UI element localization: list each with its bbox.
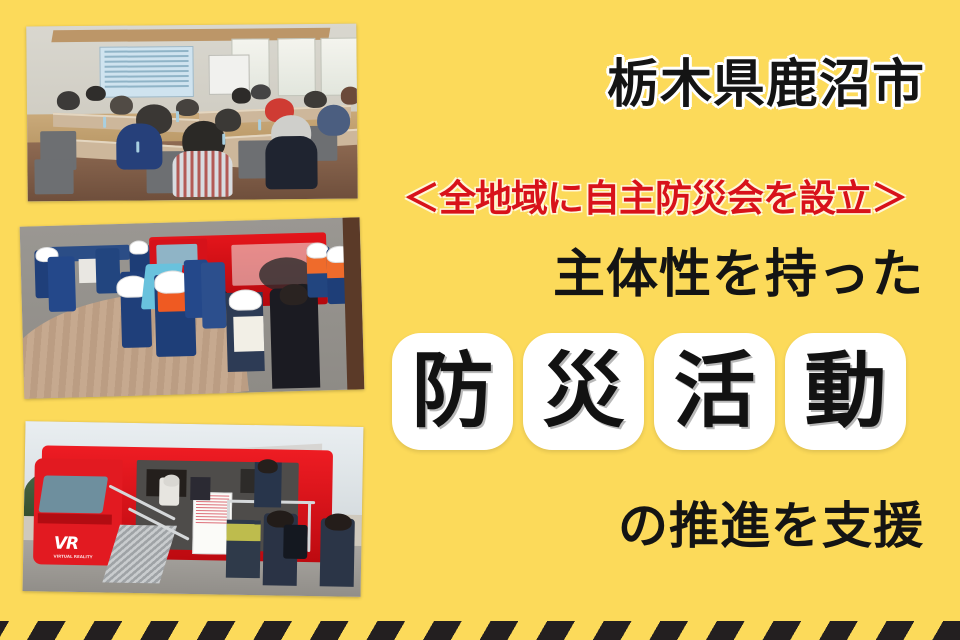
emphasis-box-row: 防 災 活 動: [392, 333, 906, 450]
vr-logo: VRVIRTUAL REALITY: [54, 534, 93, 560]
page-title: 栃木県鹿沼市: [607, 42, 925, 117]
drill-photo: [20, 217, 365, 398]
emphasis-box: 防: [392, 333, 513, 450]
vr-truck-photo: VRVIRTUAL REALITY: [23, 421, 364, 597]
tail-text: の推進を支援: [618, 486, 924, 558]
emphasis-char: 活: [673, 351, 755, 433]
emphasis-box: 活: [654, 333, 775, 450]
emphasis-char: 災: [542, 351, 624, 433]
emphasis-box: 災: [523, 333, 644, 450]
emphasis-char: 動: [804, 351, 886, 433]
seminar-photo: [26, 24, 358, 202]
subhead-banner: ＜全地域に自主防災会を設立＞: [385, 168, 925, 222]
hazard-stripe-footer: [0, 621, 960, 640]
emphasis-char: 防: [411, 351, 493, 433]
emphasis-box: 動: [785, 333, 906, 450]
poster-canvas: VRVIRTUAL REALITY 栃木県鹿沼市 ＜全地域に自主防災会を設立＞ …: [0, 0, 960, 640]
lead-text: 主体性を持った: [553, 232, 924, 307]
